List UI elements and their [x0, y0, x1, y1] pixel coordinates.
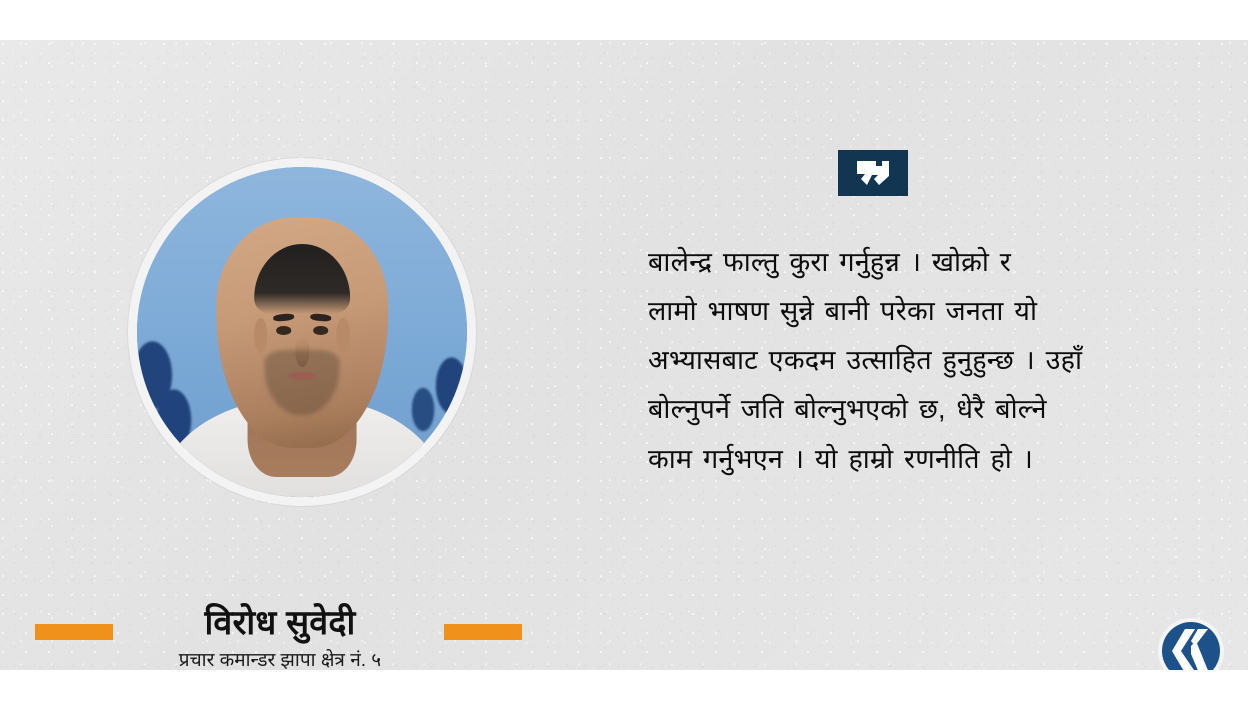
person-block: विरोध सुवेदी प्रचार कमान्डर झापा क्षेत्र…	[20, 110, 540, 630]
photo-eye-left	[276, 326, 291, 334]
photo-beard	[264, 350, 340, 415]
photo-eyebrow-right	[310, 313, 331, 322]
screenshot-root: विरोध सुवेदी प्रचार कमान्डर झापा क्षेत्र…	[0, 0, 1248, 710]
quotation-mark-icon	[838, 150, 908, 196]
photo-ear-right	[336, 318, 350, 353]
photo-ear-left	[254, 318, 268, 353]
photo-eye-right	[313, 326, 328, 334]
photo-face	[216, 217, 388, 448]
photo-eyebrow-left	[273, 313, 294, 322]
photo-hair	[254, 244, 350, 313]
quote-block: बालेन्द्र फाल्तु कुरा गर्नुहुन्न । खोक्र…	[648, 150, 1168, 484]
quote-text: बालेन्द्र फाल्तु कुरा गर्नुहुन्न । खोक्र…	[648, 238, 1168, 484]
person-role: प्रचार कमान्डर झापा क्षेत्र नं. ५	[20, 650, 540, 670]
avatar	[128, 158, 476, 506]
person-name: विरोध सुवेदी	[20, 604, 540, 643]
identity-row: विरोध सुवेदी प्रचार कमान्डर झापा क्षेत्र…	[20, 558, 540, 668]
avatar-photo	[137, 167, 467, 497]
quote-card: विरोध सुवेदी प्रचार कमान्डर झापा क्षेत्र…	[0, 40, 1248, 670]
kathmandupost-k-logo-icon	[1155, 615, 1227, 670]
